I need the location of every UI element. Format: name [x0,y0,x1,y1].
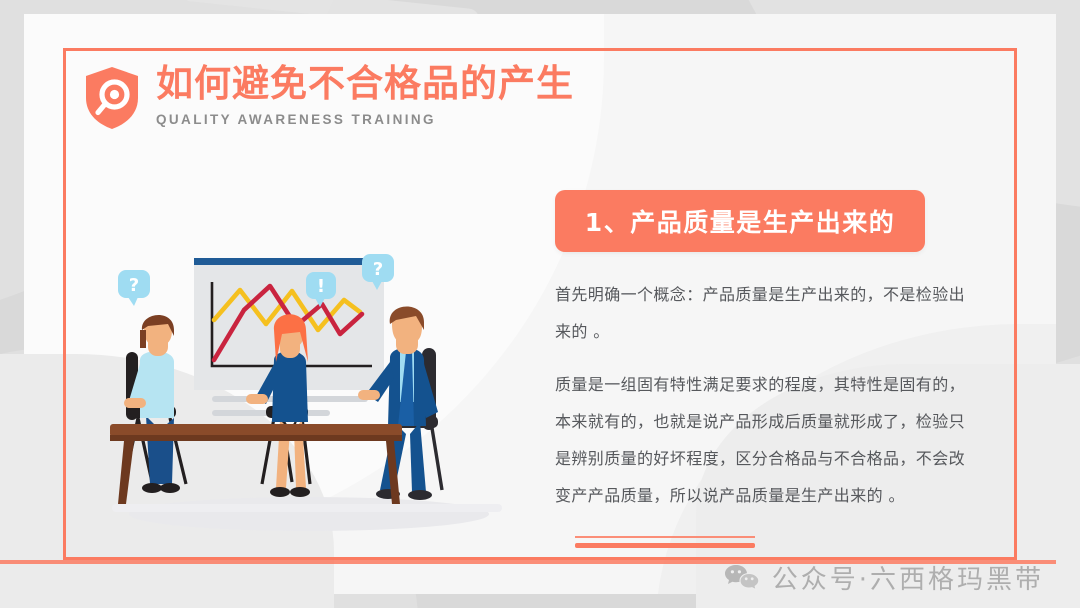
svg-text:?: ? [373,259,383,280]
svg-text:!: ! [317,276,325,297]
page-title: 如何避免不合格品的产生 [156,64,574,105]
section-heading-text: 1、产品质量是生产出来的 [585,203,895,239]
watermark-text: 公众号·六西格玛黑带 [772,559,1044,596]
slide-card: 如何避免不合格品的产生 QUALITY AWARENESS TRAINING [24,14,1056,594]
divider-thick-line [575,543,755,548]
body-paragraph-1: 首先明确一个概念：产品质量是生产出来的，不是检验出来的 。 [555,276,973,350]
watermark: 公众号·六西格玛黑带 [724,559,1044,596]
speech-bubble-left: ? [118,270,150,306]
svg-text:?: ? [129,275,139,296]
content-column: 1、产品质量是生产出来的 首先明确一个概念：产品质量是生产出来的，不是检验出来的… [555,190,975,548]
slide-canvas: 如何避免不合格品的产生 QUALITY AWARENESS TRAINING [0,0,1080,608]
wechat-icon [724,563,760,593]
person-left [124,315,180,493]
section-heading-banner: 1、产品质量是生产出来的 [555,190,925,252]
meeting-with-charts-illustration: ? ! ? [94,252,514,542]
slide-header: 如何避免不合格品的产生 QUALITY AWARENESS TRAINING [84,62,574,130]
shield-search-icon [84,66,140,130]
page-subtitle: QUALITY AWARENESS TRAINING [156,112,574,127]
divider-thin-line [575,536,755,538]
watermark-strikethrough [0,560,1056,564]
accent-divider [575,536,755,548]
title-group: 如何避免不合格品的产生 QUALITY AWARENESS TRAINING [156,62,574,127]
body-paragraph-2: 质量是一组固有特性满足要求的程度，其特性是固有的，本来就有的，也就是说产品形成后… [555,366,973,514]
